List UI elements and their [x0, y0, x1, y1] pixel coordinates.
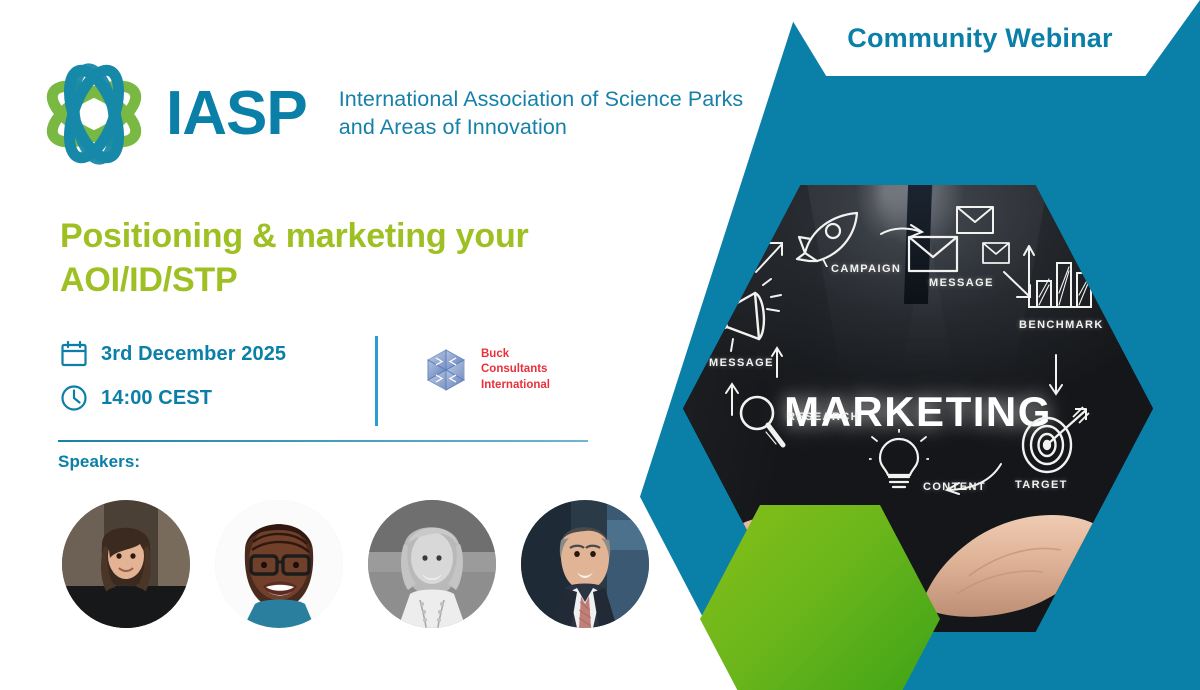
- buck-hexagon-icon: [422, 346, 470, 394]
- event-date: 3rd December 2025: [101, 343, 286, 366]
- speaker-photo-4: [521, 500, 649, 628]
- iasp-logo: IASP International Association of Scienc…: [40, 62, 743, 166]
- envelope-icon-small-top: [955, 205, 995, 235]
- event-date-row: 3rd December 2025: [60, 332, 286, 376]
- speaker-photo-2: [215, 500, 343, 628]
- envelope-icon-small: [981, 241, 1011, 265]
- avatar: [62, 500, 190, 628]
- webinar-poster: Community Webinar MARKETING MESSAGE: [0, 0, 1200, 690]
- clock-icon: [60, 384, 88, 412]
- iasp-wordmark: IASP: [166, 83, 307, 145]
- avatar: [215, 500, 343, 628]
- magnifier-icon: [735, 393, 789, 455]
- lightbulb-icon: [869, 429, 929, 491]
- iasp-subtitle: International Association of Science Par…: [339, 86, 744, 141]
- speakers-label: Speakers:: [58, 452, 140, 472]
- content-label: CONTENT: [923, 481, 986, 493]
- event-meta: 3rd December 2025 14:00 CEST: [60, 332, 600, 428]
- partner-name: Buck Consultants International: [481, 347, 550, 393]
- benchmark-label: BENCHMARK: [1019, 319, 1104, 331]
- arrow-down-icon: [1047, 353, 1065, 397]
- dartboard-icon: [1013, 403, 1091, 477]
- campaign-label: CAMPAIGN: [831, 263, 901, 275]
- avatar: [368, 500, 496, 628]
- meta-divider: [375, 336, 378, 426]
- event-time: 14:00 CEST: [101, 387, 212, 410]
- speaker-photo-3: [368, 500, 496, 628]
- message-label-right: MESSAGE: [929, 277, 994, 289]
- speakers-divider: [58, 440, 588, 442]
- envelope-icon: [907, 235, 959, 273]
- research-label: RESEARCH: [787, 411, 860, 423]
- partner-logo: Buck Consultants International: [422, 346, 550, 394]
- speaker-avatars: [62, 500, 649, 628]
- page-title: Positioning & marketing your AOI/ID/STP: [60, 215, 620, 302]
- rocket-icon: [793, 209, 863, 267]
- arrow-up-small-icon: [769, 345, 785, 379]
- target-label: TARGET: [1015, 479, 1068, 491]
- community-webinar-banner: Community Webinar: [780, 0, 1180, 76]
- avatar: [521, 500, 649, 628]
- iasp-atom-icon: [40, 62, 148, 166]
- message-label-left: MESSAGE: [709, 357, 774, 369]
- speaker-photo-1: [62, 500, 190, 628]
- event-time-row: 14:00 CEST: [60, 376, 286, 420]
- calendar-icon: [60, 340, 88, 368]
